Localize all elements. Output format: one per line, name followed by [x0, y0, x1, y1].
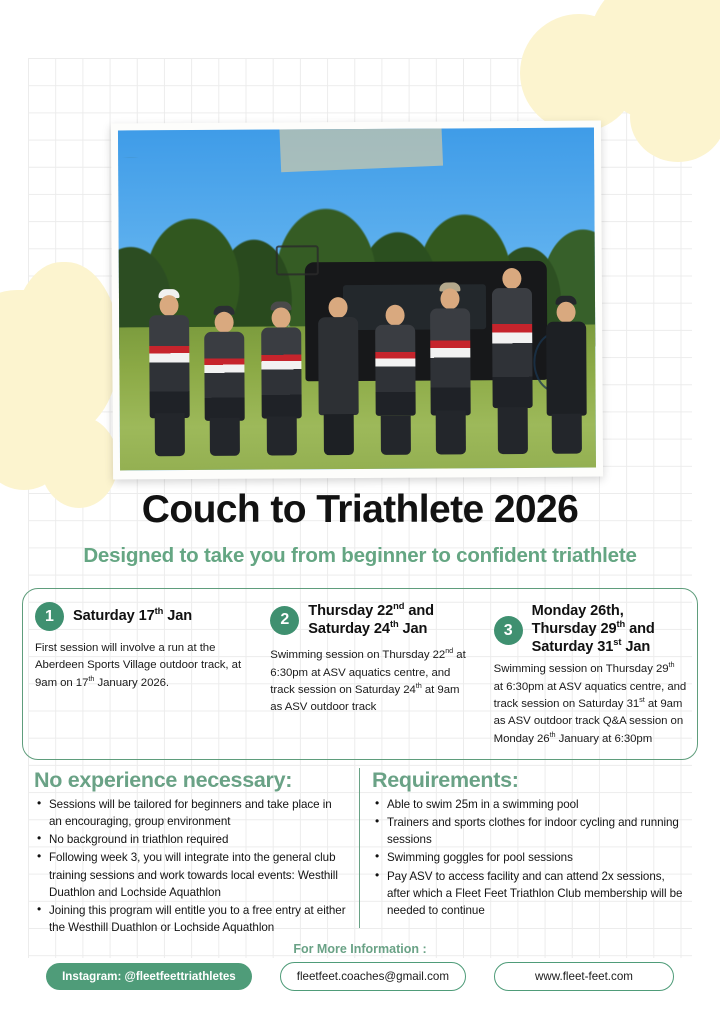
- step-1-badge: 1: [35, 602, 64, 631]
- step-2-body: Swimming session on Thursday 22nd at 6:3…: [270, 647, 471, 716]
- page-title: Couch to Triathlete 2026: [0, 488, 720, 532]
- photo-person-5: [367, 303, 425, 456]
- column-requirements-heading: Requirements:: [372, 768, 686, 793]
- contact-pills: Instagram: @fleetfeettriathletes fleetfe…: [0, 962, 720, 991]
- step-2-badge: 2: [270, 606, 299, 635]
- yellow-blob-top-right-2: [520, 14, 638, 132]
- step-1-title: Saturday 17th Jan: [73, 607, 192, 625]
- step-1-header: 1 Saturday 17th Jan: [35, 602, 248, 631]
- email-pill[interactable]: fleetfeet.coaches@gmail.com: [280, 962, 466, 991]
- step-1-body: First session will involve a run at the …: [35, 640, 248, 692]
- step-2-title: Thursday 22nd andSaturday 24th Jan: [308, 602, 434, 638]
- photo-person-8: [538, 297, 596, 454]
- team-photo-frame: [111, 121, 603, 480]
- website-pill[interactable]: www.fleet-feet.com: [494, 962, 674, 991]
- list-item: Trainers and sports clothes for indoor c…: [372, 814, 686, 848]
- list-item: Swimming goggles for pool sessions: [372, 849, 686, 866]
- photo-person-1: [138, 291, 201, 457]
- step-3-header: 3 Monday 26th,Thursday 29th andSaturday …: [494, 602, 687, 656]
- column-requirements-list: Able to swim 25m in a swimming poolTrain…: [372, 796, 686, 919]
- washi-tape: [279, 128, 443, 174]
- step-3-badge: 3: [494, 616, 523, 645]
- list-item: Pay ASV to access facility and can atten…: [372, 868, 686, 919]
- list-item: No background in triathlon required: [34, 831, 347, 848]
- page-subtitle: Designed to take you from beginner to co…: [0, 544, 720, 568]
- photo-team-members: [119, 236, 596, 456]
- step-3-title: Monday 26th,Thursday 29th andSaturday 31…: [532, 602, 655, 656]
- photo-person-7: [481, 272, 544, 455]
- column-no-experience-list: Sessions will be tailored for beginners …: [34, 796, 347, 936]
- more-info-label: For More Information :: [0, 942, 720, 956]
- step-2-header: 2 Thursday 22nd andSaturday 24th Jan: [270, 602, 471, 638]
- instagram-pill[interactable]: Instagram: @fleetfeettriathletes: [46, 963, 252, 990]
- photo-person-2: [195, 308, 253, 456]
- photo-person-4: [309, 297, 367, 456]
- list-item: Following week 3, you will integrate int…: [34, 849, 347, 900]
- list-item: Joining this program will entitle you to…: [34, 902, 347, 936]
- schedule-step-1: 1 Saturday 17th Jan First session will i…: [23, 589, 258, 759]
- photo-person-6: [419, 285, 482, 455]
- step-3-body: Swimming session on Thursday 29th at 6:3…: [494, 661, 687, 748]
- column-no-experience-heading: No experience necessary:: [34, 768, 347, 793]
- team-photo: [118, 128, 596, 471]
- photo-person-3: [252, 303, 310, 456]
- schedule-step-3: 3 Monday 26th,Thursday 29th andSaturday …: [482, 589, 697, 759]
- yellow-blob-top-right-3: [630, 72, 720, 162]
- info-columns: No experience necessary: Sessions will b…: [22, 768, 698, 928]
- column-no-experience: No experience necessary: Sessions will b…: [22, 768, 360, 928]
- column-requirements: Requirements: Able to swim 25m in a swim…: [360, 768, 698, 928]
- schedule-step-2: 2 Thursday 22nd andSaturday 24th Jan Swi…: [258, 589, 481, 759]
- schedule-card: 1 Saturday 17th Jan First session will i…: [22, 588, 698, 760]
- list-item: Able to swim 25m in a swimming pool: [372, 796, 686, 813]
- list-item: Sessions will be tailored for beginners …: [34, 796, 347, 830]
